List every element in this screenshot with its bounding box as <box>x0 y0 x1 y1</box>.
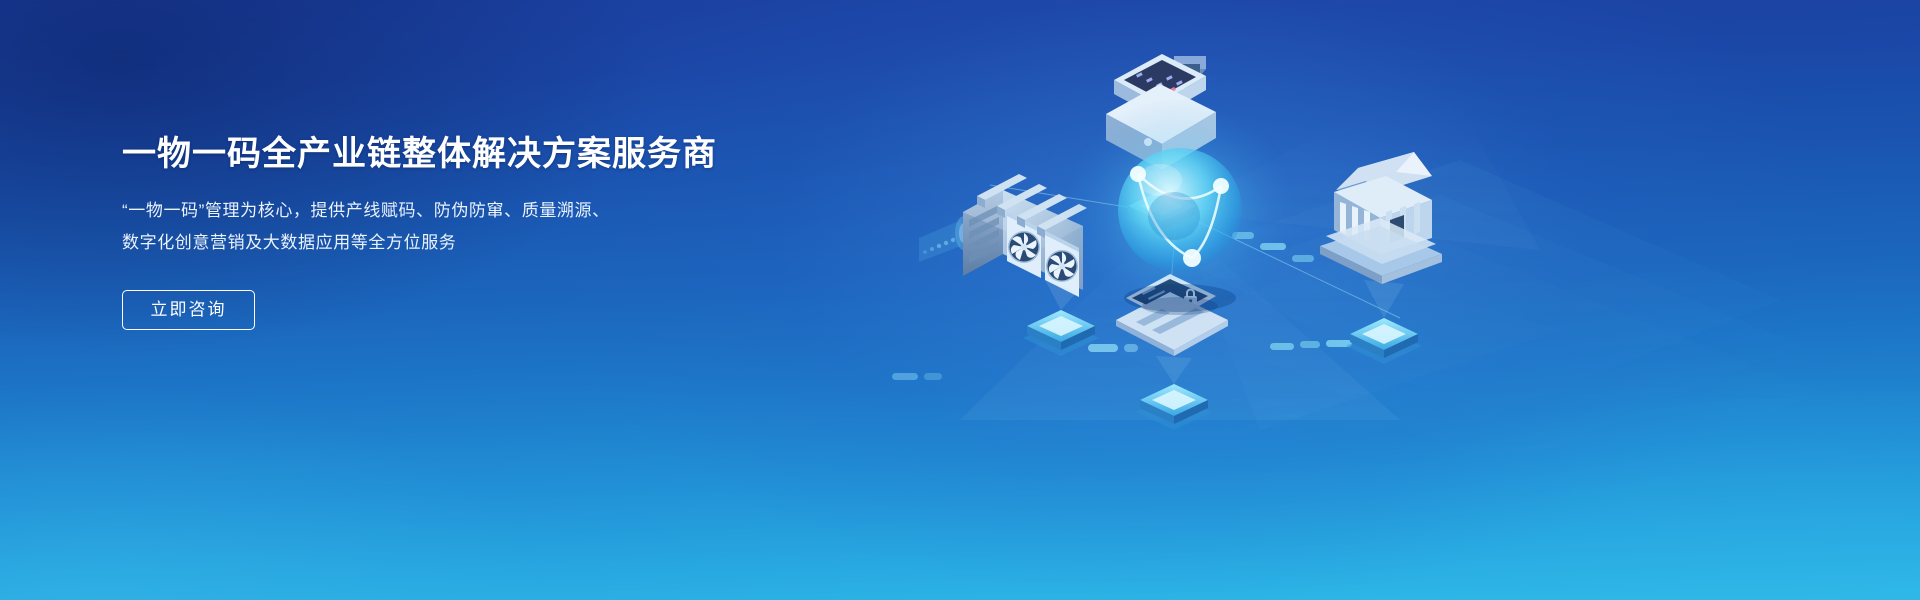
subtitle-line-2: 数字化创意营销及大数据应用等全方位服务 <box>122 227 822 259</box>
hero-content: 一物一码全产业链整体解决方案服务商 “一物一码”管理为核心，提供产线赋码、防伪防… <box>122 132 822 330</box>
subtitle-block: “一物一码”管理为核心，提供产线赋码、防伪防窜、质量溯源、 数字化创意营销及大数… <box>122 195 822 259</box>
page-title: 一物一码全产业链整体解决方案服务商 <box>122 132 822 176</box>
node-pad <box>1023 310 1099 356</box>
globe-sphere-icon <box>1062 98 1298 322</box>
background-glow-bottom-right <box>1160 280 1920 600</box>
background-glow-bottom-left <box>0 300 820 600</box>
laptop-lock-icon <box>1116 274 1228 430</box>
data-packets <box>892 232 1352 380</box>
connection-lines <box>990 148 1400 318</box>
pos-terminal-icon <box>1106 54 1216 236</box>
hero-illustration <box>840 0 1920 600</box>
server-rack-icon <box>919 174 1099 356</box>
node-pad <box>1346 318 1422 364</box>
bank-building-icon <box>1320 152 1442 364</box>
light-beams <box>960 70 1560 430</box>
node-pad <box>1136 384 1212 430</box>
hero-banner: 一物一码全产业链整体解决方案服务商 “一物一码”管理为核心，提供产线赋码、防伪防… <box>0 0 1920 600</box>
consult-now-button[interactable]: 立即咨询 <box>122 290 255 330</box>
subtitle-line-1: “一物一码”管理为核心，提供产线赋码、防伪防窜、质量溯源、 <box>122 195 822 227</box>
node-pad <box>1124 190 1200 236</box>
platform-plane <box>1100 160 1820 520</box>
